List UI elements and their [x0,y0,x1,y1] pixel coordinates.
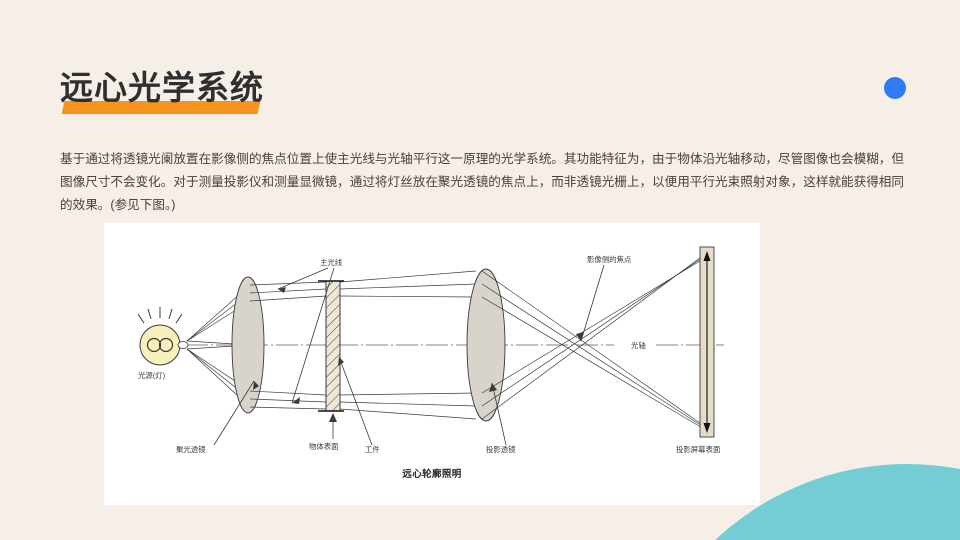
label-light-source: 光源(灯) [138,371,165,380]
label-workpiece: 工件 [365,445,380,454]
label-optical-axis: 光轴 [628,341,649,350]
label-screen-surface: 投影屏幕表面 [676,445,720,454]
workpiece-shape [318,281,344,411]
page-title: 远心光学系统 [60,66,560,122]
label-object-surface: 物体表面 [309,442,339,451]
slide-canvas: 远心光学系统 基于通过将透镜光阑放置在影像侧的焦点位置上使主光线与光轴平行这一原… [0,0,960,540]
diagram-caption: 远心轮廓照明 [104,466,760,480]
diagram-panel: 光源(灯) 聚光透镜 主光线 物体表面 工件 影像侧的焦点 投影透镜 光轴 投影… [104,223,760,505]
label-projection-lens: 投影透镜 [486,445,516,454]
body-paragraph: 基于通过将透镜光阑放置在影像侧的焦点位置上使主光线与光轴平行这一原理的光学系统。… [60,148,904,217]
condenser-lens-shape [232,277,264,413]
label-image-side-focus: 影像侧的焦点 [587,255,631,264]
label-condenser-lens: 聚光透镜 [176,445,206,454]
telecentric-optics-diagram [104,223,760,505]
rays-projection-lens-to-screen [482,255,704,429]
light-source-icon [138,307,188,365]
title-text: 远心光学系统 [60,66,264,110]
projection-lens-shape [467,269,505,421]
label-principal-ray: 主光线 [320,258,342,267]
projection-screen-shape [700,247,714,437]
blue-dot-decoration [884,77,906,99]
